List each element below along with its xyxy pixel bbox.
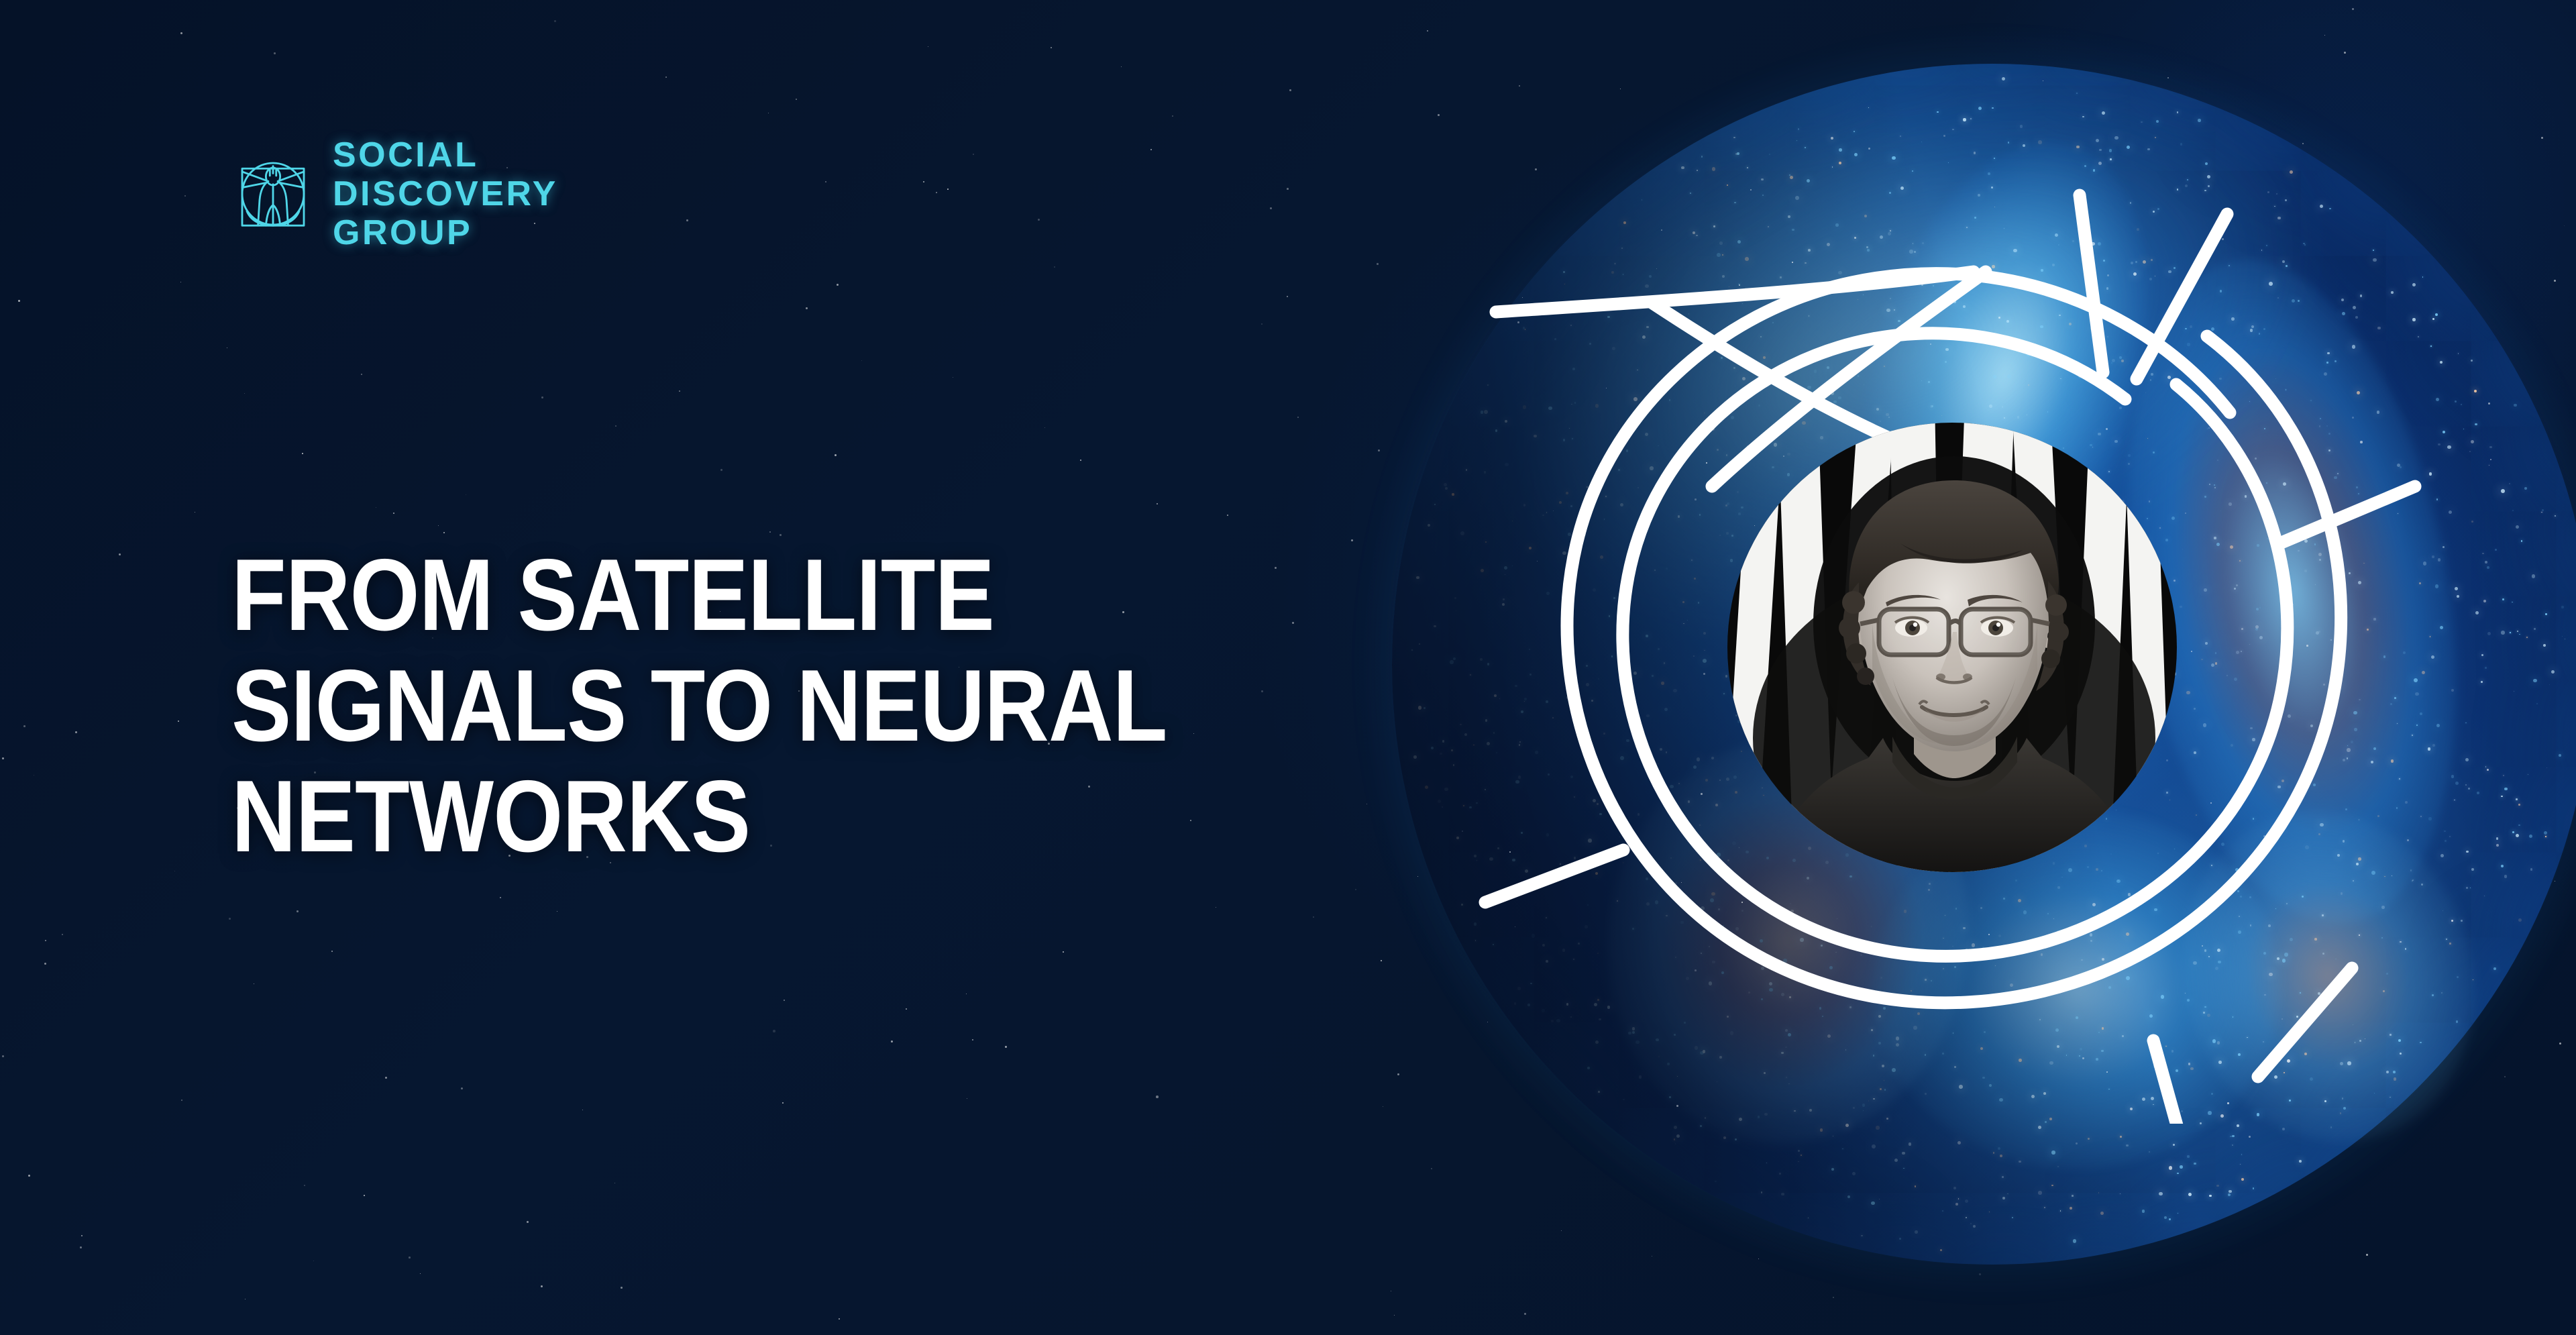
vitruvian-man-logo-mark bbox=[233, 154, 313, 233]
logo-wordmark: SOCIAL DISCOVERY GROUP bbox=[333, 138, 558, 250]
title-line-3: NETWORKS bbox=[231, 761, 1167, 872]
logo-line-1: SOCIAL bbox=[333, 138, 558, 172]
slide-canvas: SOCIAL DISCOVERY GROUP FROM SATELLITE SI… bbox=[0, 0, 2576, 1335]
page-title: FROM SATELLITE SIGNALS TO NEURAL NETWORK… bbox=[231, 540, 1295, 872]
title-line-1: FROM SATELLITE bbox=[231, 540, 1167, 651]
logo-line-3: GROUP bbox=[333, 215, 558, 250]
brand-logo[interactable]: SOCIAL DISCOVERY GROUP bbox=[233, 138, 558, 250]
speaker-portrait bbox=[1727, 423, 2177, 872]
frame-tick-right bbox=[2278, 486, 2415, 544]
frame-tick-top-right bbox=[2137, 214, 2227, 379]
speaker-photo bbox=[1727, 423, 2177, 872]
frame-tick-left bbox=[1485, 850, 1623, 902]
title-line-2: SIGNALS TO NEURAL bbox=[231, 651, 1167, 761]
frame-tick-bottom bbox=[2153, 1040, 2191, 1124]
frame-tick-bottom-right bbox=[2258, 968, 2352, 1077]
frame-tick-top bbox=[2080, 195, 2103, 372]
logo-line-2: DISCOVERY bbox=[333, 176, 558, 211]
frame-sketch-chord bbox=[1496, 272, 1974, 312]
